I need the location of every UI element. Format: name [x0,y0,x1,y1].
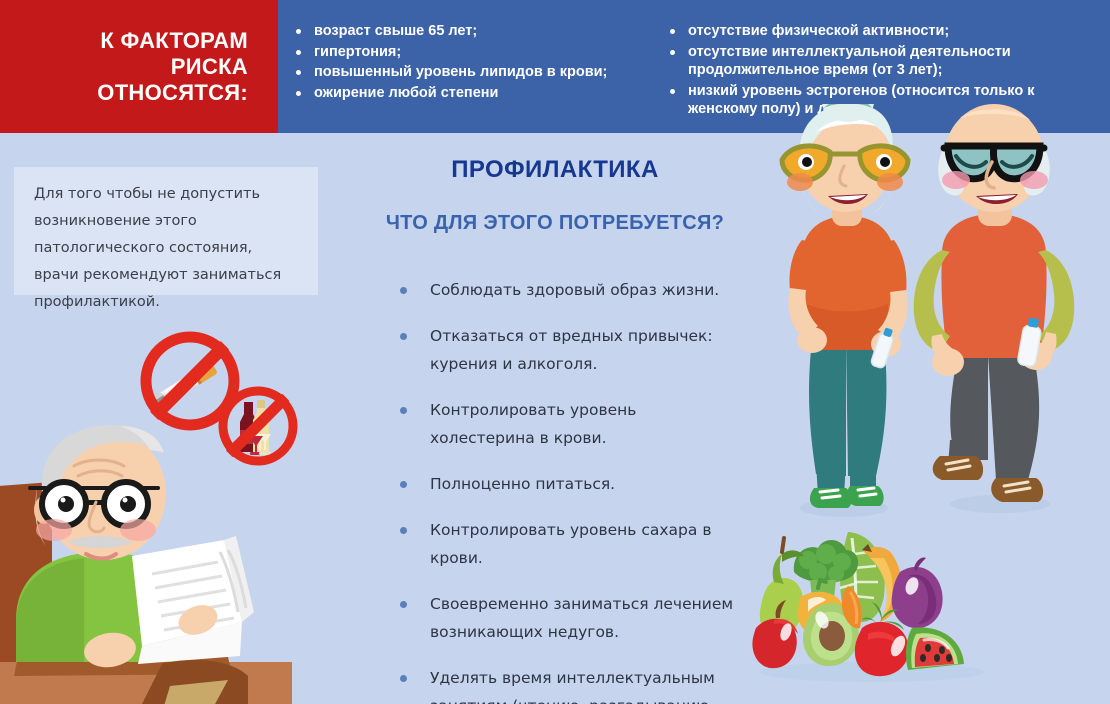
elderly-man-walking [914,104,1075,502]
risk-factor-item: ожирение любой степени [292,84,662,103]
risk-factor-item: отсутствие интеллектуальной деятельности… [666,43,1096,80]
list-item: Контролировать уровень холестерина в кро… [396,396,746,452]
fruits-vegetables-illustration [752,524,1002,684]
list-item: Своевременно заниматься лечением возника… [396,590,746,646]
page-title: ПРОФИЛАКТИКА [330,156,780,184]
risk-factor-item: повышенный уровень липидов в крови; [292,63,662,82]
infographic-canvas: К ФАКТОРАМ РИСКА ОТНОСЯТСЯ: возраст свыш… [0,0,1110,704]
header-title: К ФАКТОРАМ РИСКА ОТНОСЯТСЯ: [0,0,248,133]
prevention-note-box: Для того чтобы не допустить возникновени… [14,167,318,295]
elderly-couple-walking-illustration [772,104,1110,524]
list-item: Контролировать уровень сахара в крови. [396,516,746,572]
risk-factor-item: возраст свыше 65 лет; [292,22,662,41]
elderly-man-reading-illustration [0,424,312,704]
prevention-list: Соблюдать здоровый образ жизни. Отказать… [396,276,746,704]
risk-factors-left-column: возраст свыше 65 лет; гипертония; повыше… [292,22,662,104]
elderly-woman [782,104,908,508]
page-subtitle: ЧТО ДЛЯ ЭТОГО ПОТРЕБУЕТСЯ? [330,212,780,235]
list-item: Полноценно питаться. [396,470,746,498]
risk-factor-item: гипертония; [292,43,662,62]
header-title-line-3: ОТНОСЯТСЯ: [97,80,248,106]
list-item: Уделять время интеллектуальным занятиям … [396,664,746,704]
list-item: Соблюдать здоровый образ жизни. [396,276,746,304]
header-title-line-1: К ФАКТОРАМ [100,28,248,54]
prevention-note-text: Для того чтобы не допустить возникновени… [34,181,298,316]
header-title-line-2: РИСКА [171,54,248,80]
risk-factor-item: отсутствие физической активности; [666,22,1096,41]
list-item: Отказаться от вредных привычек: курения … [396,322,746,378]
